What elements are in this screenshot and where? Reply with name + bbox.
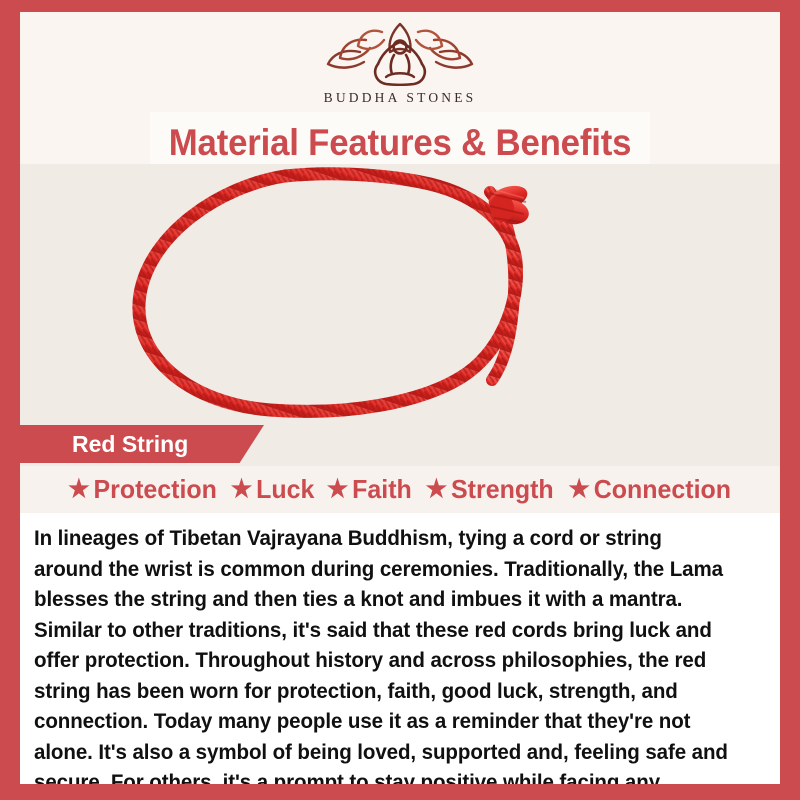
brand-name: BUDDHA STONES (324, 90, 477, 106)
material-name: Red String (72, 431, 188, 458)
infographic-page: BUDDHA STONES Material Features & Benefi… (0, 0, 800, 800)
star-icon: ★ (569, 477, 591, 502)
benefit-label: Luck (256, 474, 314, 505)
benefit-item-strength: ★Strength (426, 474, 554, 505)
star-icon: ★ (327, 477, 349, 502)
product-photo (20, 164, 780, 422)
star-icon: ★ (68, 477, 90, 502)
benefit-item-luck: ★Luck (231, 474, 315, 505)
benefit-label: Protection (94, 474, 217, 505)
material-ribbon: Red String (20, 425, 264, 463)
ribbon-row: Red String (20, 422, 780, 466)
brand-logo: BUDDHA STONES (20, 22, 780, 106)
benefits-row: ★Protection ★Luck ★Faith ★Strength ★Conn… (20, 466, 780, 513)
red-string-bracelet-illustration (20, 164, 780, 422)
star-icon: ★ (231, 477, 253, 502)
benefit-item-faith: ★Faith (327, 474, 412, 505)
lotus-meditation-figure-icon (326, 22, 474, 88)
infographic-canvas: BUDDHA STONES Material Features & Benefi… (20, 12, 780, 784)
description-block: In lineages of Tibetan Vajrayana Buddhis… (20, 513, 780, 784)
benefit-label: Strength (451, 474, 554, 505)
star-icon: ★ (426, 477, 448, 502)
benefit-label: Connection (594, 474, 731, 505)
benefit-item-protection: ★Protection (68, 474, 217, 505)
benefit-label: Faith (353, 474, 413, 505)
description-paragraph: In lineages of Tibetan Vajrayana Buddhis… (34, 523, 733, 784)
benefit-item-connection: ★Connection (569, 474, 732, 505)
page-title: Material Features & Benefits (169, 122, 631, 164)
